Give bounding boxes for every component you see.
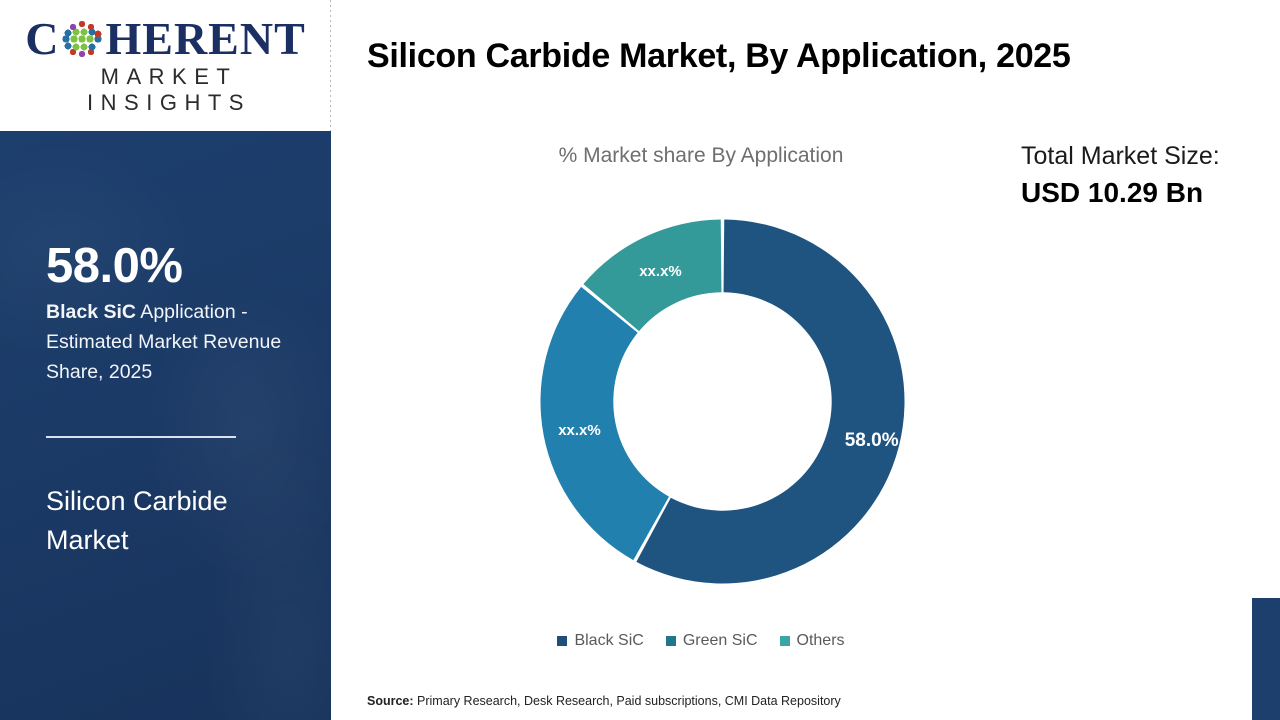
source-text: Primary Research, Desk Research, Paid su… — [414, 694, 841, 708]
legend-swatch-icon — [666, 636, 676, 646]
sidebar-market-name: Silicon Carbide Market — [46, 482, 285, 560]
dotted-globe-icon — [60, 17, 104, 61]
main-content: Silicon Carbide Market, By Application, … — [331, 0, 1280, 720]
total-market-size: Total Market Size: USD 10.29 Bn — [1021, 140, 1276, 211]
legend-item-black-sic[interactable]: Black SiC — [557, 632, 643, 650]
donut-label-others: xx.x% — [639, 263, 682, 280]
sidebar: C HERENT MARKET INSIGHTS 58.0% Black SiC… — [0, 0, 331, 720]
market-size-label: Total Market Size: — [1021, 140, 1276, 173]
logo-tagline: MARKET INSIGHTS — [16, 64, 316, 116]
legend-item-green-sic[interactable]: Green SiC — [666, 632, 758, 650]
donut-chart-svg: 58.0%xx.x%xx.x% — [530, 209, 915, 594]
source-label: Source: — [367, 694, 414, 708]
donut-label-black-sic: 58.0% — [845, 430, 899, 451]
chart-subtitle: % Market share By Application — [331, 144, 1071, 168]
logo-letters-herent: HERENT — [105, 16, 305, 62]
legend-swatch-icon — [780, 636, 790, 646]
donut-label-green-sic: xx.x% — [558, 422, 601, 439]
highlight-stat-segment: Black SiC — [46, 301, 136, 323]
legend-item-others[interactable]: Others — [780, 632, 845, 650]
sidebar-divider — [46, 436, 236, 438]
sidebar-content: 58.0% Black SiC Application - Estimated … — [0, 131, 331, 720]
legend-label: Black SiC — [574, 632, 643, 650]
logo-wordmark: C HERENT — [16, 16, 316, 62]
brand-logo[interactable]: C HERENT MARKET INSIGHTS — [0, 0, 331, 131]
legend-label: Green SiC — [683, 632, 758, 650]
highlight-stat-value: 58.0% — [46, 241, 285, 292]
legend-swatch-icon — [557, 636, 567, 646]
source-note: Source: Primary Research, Desk Research,… — [367, 694, 841, 708]
legend-label: Others — [797, 632, 845, 650]
corner-accent-block — [1252, 598, 1280, 720]
donut-chart: 58.0%xx.x%xx.x% — [530, 209, 915, 594]
logo-letter-c: C — [25, 16, 59, 62]
page-title: Silicon Carbide Market, By Application, … — [367, 31, 1087, 83]
donut-slices — [541, 220, 905, 584]
market-size-value: USD 10.29 Bn — [1021, 174, 1276, 212]
chart-legend: Black SiCGreen SiCOthers — [331, 632, 1071, 650]
highlight-stat-description: Black SiC Application - Estimated Market… — [46, 298, 285, 387]
